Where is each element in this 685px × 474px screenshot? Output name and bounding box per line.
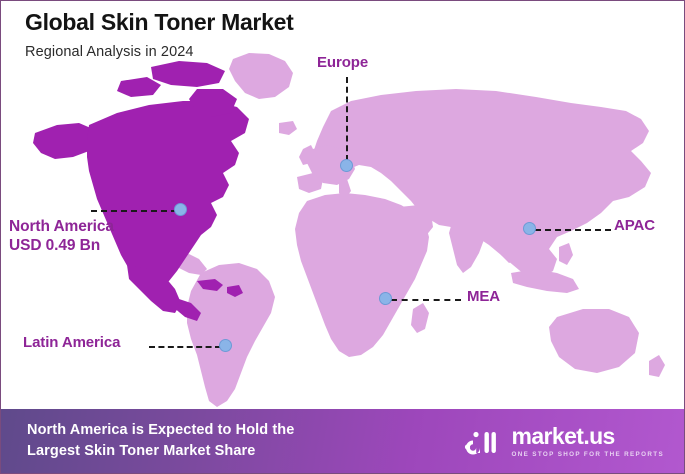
- region-greenland: [229, 53, 293, 99]
- region-india: [449, 217, 485, 273]
- label-north-america: North America USD 0.49 Bn: [9, 217, 114, 256]
- infographic-card: Global Skin Toner Market Regional Analys…: [0, 0, 685, 474]
- page-subtitle: Regional Analysis in 2024: [25, 44, 293, 60]
- marker-mea[interactable]: [379, 292, 392, 305]
- leader-line-apac: [535, 229, 611, 231]
- marker-apac[interactable]: [523, 222, 536, 235]
- banner-line-1: North America is Expected to Hold the: [27, 420, 294, 441]
- region-philippines: [559, 243, 573, 265]
- label-mea: MEA: [467, 288, 500, 307]
- label-north-america-name: North America: [9, 217, 114, 236]
- market-us-logo[interactable]: market.us ONE STOP SHOP FOR THE REPORTS: [464, 425, 664, 458]
- footer-banner: North America is Expected to Hold the La…: [1, 409, 685, 473]
- leader-line-north-america: [91, 210, 177, 212]
- banner-message: North America is Expected to Hold the La…: [27, 420, 294, 462]
- logo-text: market.us ONE STOP SHOP FOR THE REPORTS: [511, 425, 664, 458]
- region-madagascar: [411, 303, 429, 333]
- marker-europe[interactable]: [340, 159, 353, 172]
- region-arctic-islands-2-highlight: [117, 77, 161, 97]
- region-indonesia: [511, 269, 579, 293]
- region-north-america-highlight: [87, 101, 249, 289]
- marker-latin-america[interactable]: [219, 339, 232, 352]
- header: Global Skin Toner Market Regional Analys…: [25, 9, 293, 60]
- logo-wordmark: market.us: [511, 425, 664, 448]
- leader-line-latin-america: [149, 346, 221, 348]
- label-latin-america: Latin America: [23, 334, 120, 353]
- banner-line-2: Largest Skin Toner Market Share: [27, 441, 294, 462]
- label-north-america-value: USD 0.49 Bn: [9, 236, 114, 255]
- leader-line-europe: [346, 77, 348, 161]
- bar-chart-logo-icon: [464, 426, 504, 456]
- map-highlight-regions: [33, 61, 249, 321]
- page-title: Global Skin Toner Market: [25, 9, 293, 37]
- label-europe: Europe: [317, 54, 368, 73]
- region-iceland: [279, 121, 297, 135]
- marker-north-america[interactable]: [174, 203, 187, 216]
- region-australia: [549, 309, 639, 373]
- leader-line-mea: [391, 299, 461, 301]
- region-arctic-islands-highlight: [151, 61, 225, 87]
- label-apac: APAC: [614, 217, 655, 236]
- region-new-zealand: [649, 355, 665, 377]
- logo-tagline: ONE STOP SHOP FOR THE REPORTS: [511, 451, 664, 458]
